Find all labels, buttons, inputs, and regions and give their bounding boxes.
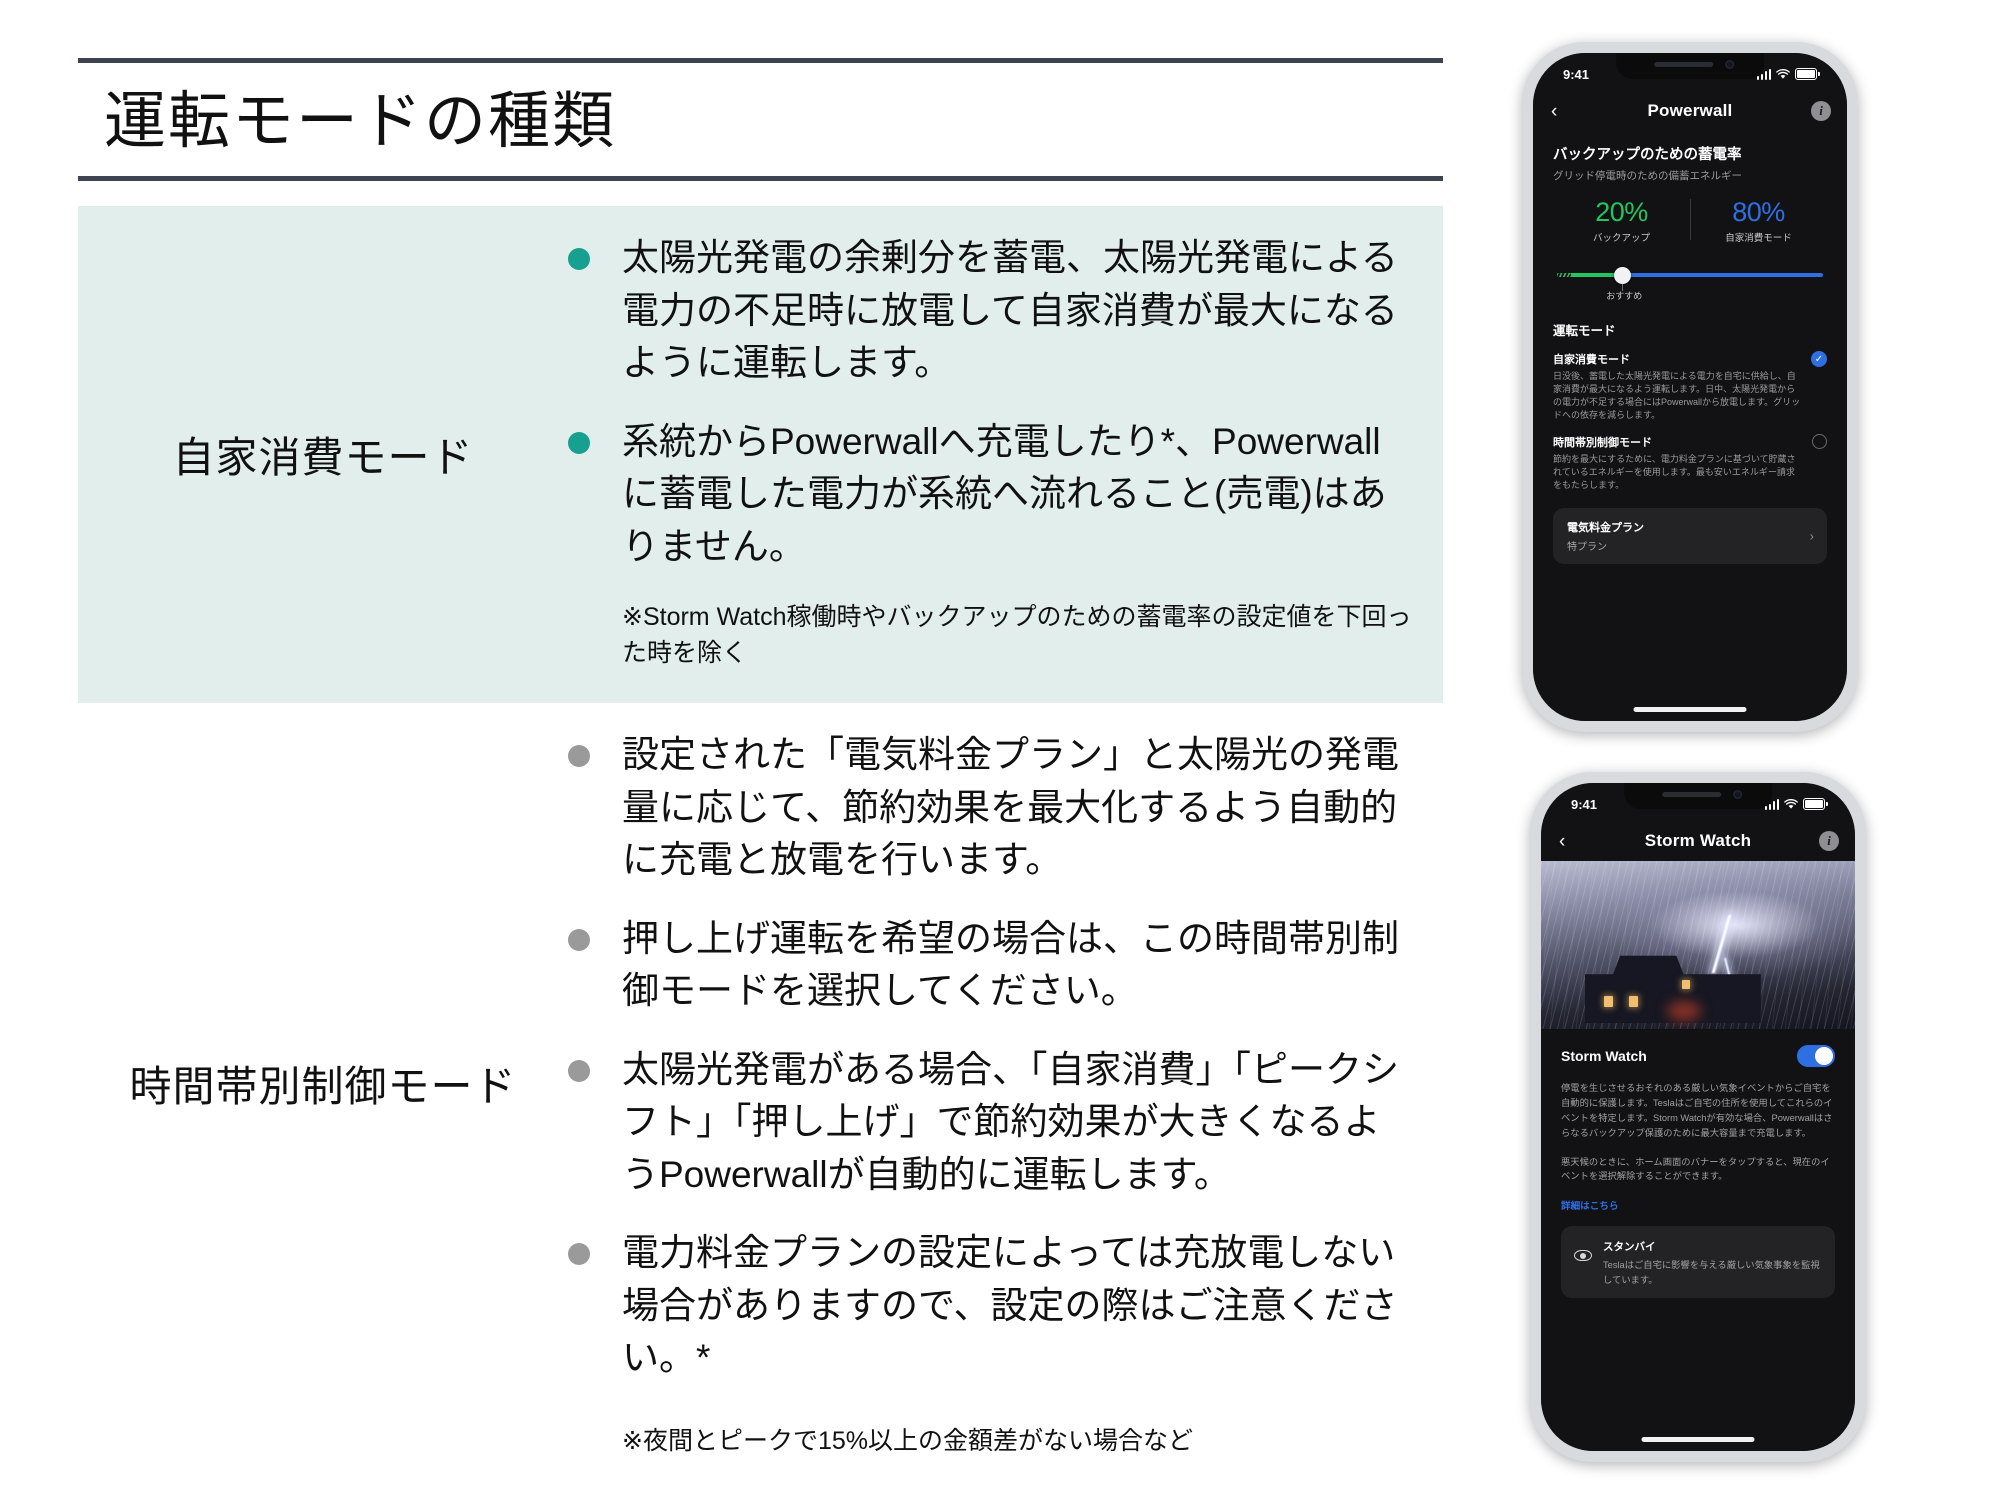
- mode-name: 自家消費モード: [1553, 351, 1801, 367]
- list-item: 太陽光発電の余剰分を蓄電、太陽光発電による電力の不足時に放電して自家消費が最大に…: [568, 232, 1413, 390]
- stat-value: 20%: [1553, 197, 1690, 228]
- speaker-grille: [1655, 62, 1714, 67]
- storm-watch-paragraph-1: 停電を生じさせるおそれのある厳しい気象イベントからご自宅を自動的に保護します。T…: [1561, 1081, 1835, 1141]
- mode-option-time-based[interactable]: 時間帯別制御モード 節約を最大にするために、電力料金プランに基づいて貯蔵されてい…: [1553, 434, 1827, 492]
- card-value: 特プラン: [1567, 538, 1813, 553]
- stat-caption: 自家消費モード: [1690, 230, 1827, 244]
- learn-more-link[interactable]: 詳細はこちら: [1561, 1198, 1835, 1212]
- phone-screen: 9:41 ‹ Powerwall i: [1533, 53, 1847, 721]
- chevron-left-icon[interactable]: ‹: [1559, 832, 1565, 851]
- recommended-label: おすすめ: [1606, 289, 1642, 302]
- status-time: 9:41: [1571, 797, 1597, 812]
- status-time: 9:41: [1563, 67, 1589, 82]
- modes-heading: 運転モード: [1553, 320, 1827, 339]
- house-window: [1604, 996, 1613, 1007]
- bullet-text: 設定された「電気料金プラン」と太陽光の発電量に応じて、節約効果を最大化するよう自…: [622, 729, 1413, 887]
- bullet-dot-icon: [568, 1243, 590, 1265]
- bullet-text: 電力料金プランの設定によっては充放電しない場合がありますので、設定の際はご注意く…: [622, 1227, 1413, 1385]
- storm-watch-content: Storm Watch 停電を生じさせるおそれのある厳しい気象イベントからご自宅…: [1541, 1045, 1855, 1298]
- storm-watch-toggle-row[interactable]: Storm Watch: [1561, 1045, 1835, 1067]
- bullet-dot-icon: [568, 248, 590, 270]
- backup-reserve-slider[interactable]: おすすめ: [1557, 264, 1823, 298]
- row-body: 設定された「電気料金プラン」と太陽光の発電量に応じて、節約効果を最大化するよう自…: [568, 703, 1443, 1463]
- chevron-left-icon[interactable]: ‹: [1551, 102, 1557, 121]
- section-subheading: グリッド停電時のための備蓄エネルギー: [1553, 168, 1827, 183]
- home-indicator[interactable]: [1641, 1437, 1754, 1442]
- phone-notch: [1616, 53, 1764, 79]
- bullet-dot-icon: [568, 929, 590, 951]
- table-row-time-based-control: 時間帯別制御モード 設定された「電気料金プラン」と太陽光の発電量に応じて、節約効…: [78, 703, 1443, 1463]
- bullet-dot-icon: [568, 1060, 590, 1082]
- standby-status-card[interactable]: スタンバイ Teslaはご自宅に影響を与える厳しい気象事象を監視しています。: [1561, 1226, 1835, 1298]
- phone-screen: 9:41 ‹ Storm Watch i: [1541, 783, 1855, 1451]
- front-camera-icon: [1725, 60, 1734, 69]
- mode-description: 節約を最大にするために、電力料金プランに基づいて貯蔵されているエネルギーを使用し…: [1553, 453, 1801, 492]
- mode-name: 時間帯別制御モード: [1553, 434, 1801, 450]
- mode-description: 日没後、蓄電した太陽光発電による電力を自宅に供給し、自家消費が最大になるよう運転…: [1553, 370, 1801, 422]
- bullet-dot-icon: [568, 745, 590, 767]
- wifi-icon: [1784, 799, 1798, 810]
- list-item: 押し上げ運転を希望の場合は、この時間帯別制御モードを選択してください。: [568, 913, 1413, 1018]
- list-item: 電力料金プランの設定によっては充放電しない場合がありますので、設定の際はご注意く…: [568, 1227, 1413, 1385]
- nav-title: Powerwall: [1648, 101, 1733, 121]
- stat-value: 80%: [1690, 197, 1827, 228]
- bullet-text: 系統からPowerwallへ充電したり*、Powerwallに蓄電した電力が系統…: [622, 416, 1413, 574]
- card-title: 電気料金プラン: [1567, 519, 1813, 535]
- phone-mockup-powerwall: 9:41 ‹ Powerwall i: [1522, 42, 1858, 732]
- status-right-group: [1757, 68, 1818, 80]
- page-title: 運転モードの種類: [104, 72, 1404, 172]
- phone-bezel: 9:41 ‹ Storm Watch i: [1541, 783, 1855, 1451]
- nav-bar: ‹ Storm Watch i: [1541, 821, 1855, 861]
- front-camera-icon: [1733, 790, 1742, 799]
- bullet-dot-icon: [568, 432, 590, 454]
- slider-hatch-zone: [1557, 273, 1571, 277]
- speaker-grille: [1663, 792, 1722, 797]
- bullet-list: 設定された「電気料金プラン」と太陽光の発電量に応じて、節約効果を最大化するよう自…: [568, 729, 1413, 1385]
- eye-icon: [1574, 1246, 1592, 1264]
- storm-watch-toggle[interactable]: [1797, 1045, 1835, 1067]
- nav-title: Storm Watch: [1645, 831, 1751, 851]
- stats-divider: [1690, 199, 1691, 240]
- footnote: ※Storm Watch稼働時やバックアップのための蓄電率の設定値を下回った時を…: [622, 599, 1413, 672]
- standby-title: スタンバイ: [1603, 1241, 1656, 1253]
- battery-icon: [1795, 68, 1817, 80]
- info-icon[interactable]: i: [1811, 101, 1831, 121]
- title-rule-bottom: [78, 176, 1443, 181]
- checkmark-icon[interactable]: ✓: [1811, 351, 1827, 367]
- row-label: 時間帯別制御モード: [78, 703, 568, 1463]
- radio-unselected-icon[interactable]: [1812, 434, 1827, 449]
- status-right-group: [1765, 798, 1826, 810]
- storm-watch-label: Storm Watch: [1561, 1048, 1647, 1064]
- mode-option-self-consumption[interactable]: 自家消費モード 日没後、蓄電した太陽光発電による電力を自宅に供給し、自家消費が最…: [1553, 351, 1827, 422]
- bullet-text: 押し上げ運転を希望の場合は、この時間帯別制御モードを選択してください。: [622, 913, 1413, 1018]
- electricity-plan-card[interactable]: 電気料金プラン 特プラン ›: [1553, 508, 1827, 564]
- toggle-knob: [1815, 1047, 1833, 1065]
- powerwall-content: バックアップのための蓄電率 グリッド停電時のための備蓄エネルギー 20% バック…: [1533, 143, 1847, 564]
- phone-notch: [1624, 783, 1772, 809]
- window-glow: [1667, 1001, 1701, 1021]
- standby-card-text: スタンバイ Teslaはご自宅に影響を与える厳しい気象事象を監視しています。: [1603, 1237, 1822, 1287]
- reserve-stats: 20% バックアップ 80% 自家消費モード: [1553, 197, 1827, 244]
- nav-bar: ‹ Powerwall i: [1533, 91, 1847, 131]
- stat-backup: 20% バックアップ: [1553, 197, 1690, 244]
- bullet-list: 太陽光発電の余剰分を蓄電、太陽光発電による電力の不足時に放電して自家消費が最大に…: [568, 232, 1413, 573]
- standby-description: Teslaはご自宅に影響を与える厳しい気象事象を監視しています。: [1603, 1258, 1822, 1287]
- slide-root: 運転モードの種類 自家消費モード 太陽光発電の余剰分を蓄電、太陽光発電による電力…: [0, 0, 1500, 1500]
- bullet-text: 太陽光発電がある場合、「自家消費」「ピークシフト」「押し上げ」で節約効果が大きく…: [622, 1044, 1413, 1202]
- slider-knob[interactable]: [1614, 267, 1631, 284]
- section-heading: バックアップのための蓄電率: [1553, 143, 1827, 164]
- wifi-icon: [1776, 69, 1790, 80]
- info-icon[interactable]: i: [1819, 831, 1839, 851]
- row-label: 自家消費モード: [78, 206, 568, 703]
- storm-watch-paragraph-2: 悪天候のときに、ホーム画面のバナーをタップすると、現在のイベントを選択解除するこ…: [1561, 1155, 1835, 1185]
- list-item: 太陽光発電がある場合、「自家消費」「ピークシフト」「押し上げ」で節約効果が大きく…: [568, 1044, 1413, 1202]
- list-item: 系統からPowerwallへ充電したり*、Powerwallに蓄電した電力が系統…: [568, 416, 1413, 574]
- phone-mockup-storm-watch: 9:41 ‹ Storm Watch i: [1530, 772, 1866, 1462]
- stat-caption: バックアップ: [1553, 230, 1690, 244]
- chevron-right-icon: ›: [1810, 529, 1814, 544]
- storm-hero-image: [1541, 861, 1855, 1029]
- house-window: [1629, 996, 1638, 1007]
- phone-bezel: 9:41 ‹ Powerwall i: [1533, 53, 1847, 721]
- row-body: 太陽光発電の余剰分を蓄電、太陽光発電による電力の不足時に放電して自家消費が最大に…: [568, 206, 1443, 703]
- slider-track[interactable]: [1557, 273, 1823, 277]
- stat-self-consumption: 80% 自家消費モード: [1690, 197, 1827, 244]
- battery-icon: [1803, 798, 1825, 810]
- home-indicator[interactable]: [1633, 707, 1746, 712]
- list-item: 設定された「電気料金プラン」と太陽光の発電量に応じて、節約効果を最大化するよう自…: [568, 729, 1413, 887]
- bullet-text: 太陽光発電の余剰分を蓄電、太陽光発電による電力の不足時に放電して自家消費が最大に…: [622, 232, 1413, 390]
- table-row-self-consumption: 自家消費モード 太陽光発電の余剰分を蓄電、太陽光発電による電力の不足時に放電して…: [78, 206, 1443, 703]
- footnote: ※夜間とピークで15%以上の金額差がない場合など: [622, 1423, 1413, 1459]
- title-rule-top: [78, 58, 1443, 63]
- house-window: [1682, 980, 1690, 989]
